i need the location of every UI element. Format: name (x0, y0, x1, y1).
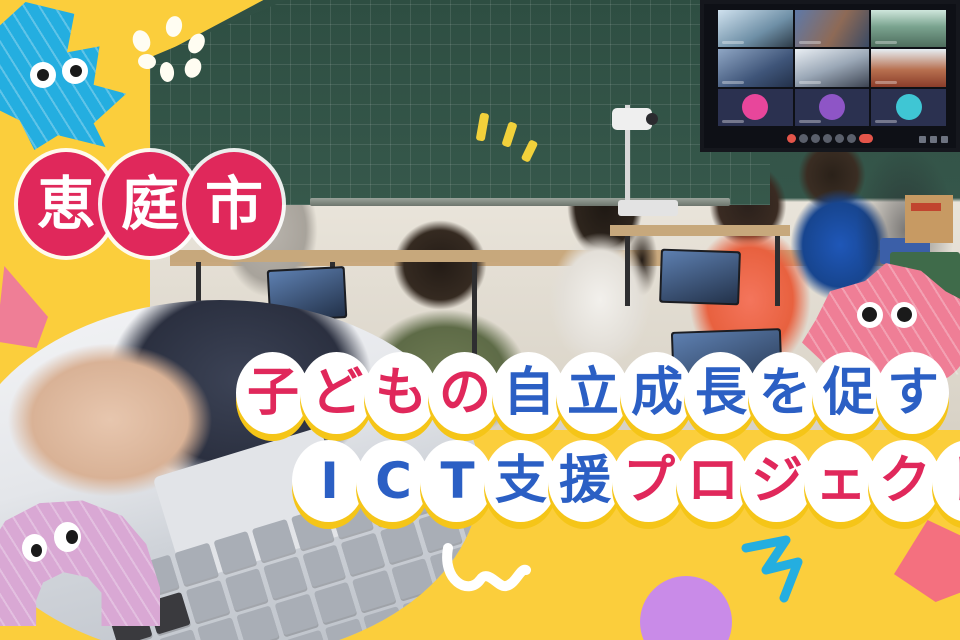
desk-leg (625, 236, 630, 306)
mascot-eye (62, 58, 88, 84)
headline-char: も (364, 352, 437, 434)
cardboard-box (905, 195, 953, 243)
camera-icon (811, 134, 820, 143)
video-tile (718, 10, 793, 47)
headline-line-2: I C T 支 援 プ ロ ジ ェ ク ト (292, 440, 956, 522)
user-icon (930, 136, 937, 143)
headline-char: ジ (740, 440, 813, 522)
headline-char: T (420, 440, 493, 522)
student-desk (610, 225, 790, 236)
video-tile (795, 49, 870, 86)
mascot-eye (857, 302, 883, 328)
video-tile-avatar (718, 89, 793, 126)
headline-char: 促 (812, 352, 885, 434)
participants-icon (835, 134, 844, 143)
blue-zigzag-icon (740, 532, 860, 606)
share-screen-icon (823, 134, 832, 143)
headline-char: 成 (620, 352, 693, 434)
headline-line-1: 子 ど も の 自 立 成 長 を 促 す (236, 352, 956, 434)
headline-char: 長 (684, 352, 757, 434)
microphone-icon (799, 134, 808, 143)
headline-char: C (356, 440, 429, 522)
city-badge-bubble: 庭 (102, 152, 198, 256)
video-tile (795, 10, 870, 47)
headline-char: ど (300, 352, 373, 434)
headline-char: す (876, 352, 949, 434)
end-call-icon (859, 134, 873, 143)
city-badge-char: 市 (205, 175, 263, 233)
video-tile-grid (718, 10, 946, 126)
video-call-control-bar (704, 128, 956, 148)
city-badge: 恵 庭 市 (18, 152, 270, 256)
headline-char: ロ (676, 440, 749, 522)
desk-leg (472, 262, 477, 357)
video-tile (871, 49, 946, 86)
mascot-eye (30, 62, 56, 88)
headline-char: ェ (804, 440, 877, 522)
layout-icon (941, 136, 948, 143)
record-icon (787, 134, 796, 143)
headline-char: プ (612, 440, 685, 522)
mascot-eye (54, 522, 81, 552)
document-camera-base (618, 200, 678, 216)
campaign-banner: 恵 庭 市 子 ど も の 自 立 成 長 を 促 す I C T 支 援 (0, 0, 960, 640)
city-badge-char: 恵 (37, 175, 95, 233)
video-tile-avatar (795, 89, 870, 126)
headline-char: 子 (236, 352, 309, 434)
headline-char: 援 (548, 440, 621, 522)
video-tile (871, 10, 946, 47)
student-laptop (659, 249, 741, 306)
gear-icon (919, 136, 926, 143)
headline-char: を (748, 352, 821, 434)
headline-char: 支 (484, 440, 557, 522)
headline-char: I (292, 440, 365, 522)
display-status-icons (919, 136, 948, 143)
headline-char: の (428, 352, 501, 434)
video-tile-avatar (871, 89, 946, 126)
desk-leg (775, 236, 780, 306)
video-tile (718, 49, 793, 86)
headline-char: ク (868, 440, 941, 522)
headline-char: 自 (492, 352, 565, 434)
city-badge-bubble: 市 (186, 152, 282, 256)
headline-char: 立 (556, 352, 629, 434)
video-conference-display (700, 0, 960, 152)
mascot-eye (891, 302, 917, 328)
document-camera-head (612, 108, 652, 130)
headline: 子 ど も の 自 立 成 長 を 促 す I C T 支 援 プ ロ ジ ェ … (236, 352, 956, 528)
headline-char: ト (932, 440, 960, 522)
city-badge-bubble: 恵 (18, 152, 114, 256)
chat-icon (847, 134, 856, 143)
city-badge-char: 庭 (121, 175, 179, 233)
white-squiggle-icon (440, 540, 590, 620)
mascot-eye (22, 534, 47, 562)
